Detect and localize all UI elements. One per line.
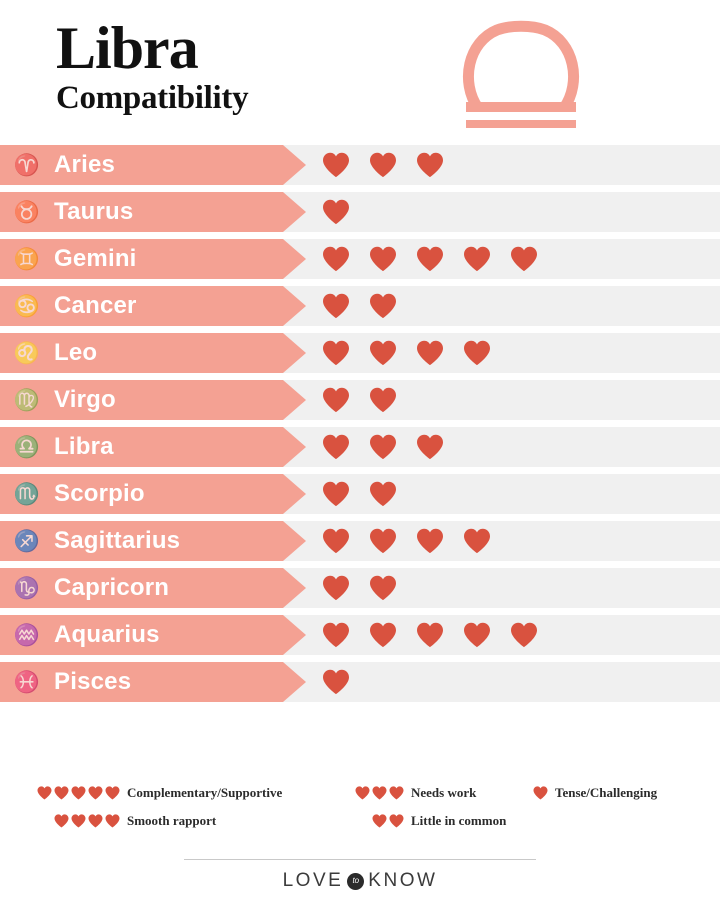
logo-know-text: KNOW (368, 870, 437, 892)
legend-label: Smooth rapport (127, 813, 216, 829)
heart-icon (369, 293, 397, 319)
sign-name-label: Leo (54, 339, 97, 367)
heart-icon (369, 434, 397, 460)
sign-name-label: Pisces (54, 668, 131, 696)
heart-rating (322, 286, 397, 326)
legend-column: Complementary/SupportiveSmooth rapport (34, 782, 334, 838)
heart-icon (322, 622, 350, 648)
sign-banner-aries[interactable]: ♈Aries (0, 145, 306, 185)
aquarius-symbol-icon: ♒ (0, 625, 54, 646)
heart-icon (533, 786, 548, 800)
scorpio-symbol-icon: ♏ (0, 484, 54, 505)
heart-rating (322, 192, 350, 232)
heart-icon (369, 528, 397, 554)
heart-icon (369, 152, 397, 178)
heart-icon (322, 246, 350, 272)
heart-rating (322, 380, 397, 420)
capricorn-symbol-icon: ♑ (0, 578, 54, 599)
footer-divider (184, 859, 536, 860)
sign-name-label: Gemini (54, 245, 137, 273)
heart-icon (372, 814, 387, 828)
sign-name-label: Cancer (54, 292, 137, 320)
legend-heart-group (352, 786, 404, 800)
page-title: Libra (56, 18, 248, 78)
heart-icon (369, 387, 397, 413)
heart-icon (463, 622, 491, 648)
legend-item: Smooth rapport (34, 810, 334, 832)
sign-banner-aquarius[interactable]: ♒Aquarius (0, 615, 306, 655)
table-row: ♏Scorpio (0, 474, 720, 514)
heart-rating (322, 521, 491, 561)
heart-icon (322, 575, 350, 601)
sign-name-label: Libra (54, 433, 114, 461)
heart-icon (37, 786, 52, 800)
legend-item: Tense/Challenging (530, 782, 710, 804)
sign-banner-libra[interactable]: ♎Libra (0, 427, 306, 467)
table-row: ♋Cancer (0, 286, 720, 326)
logo-to-badge: to (347, 873, 364, 890)
heart-icon (322, 481, 350, 507)
heart-icon (322, 152, 350, 178)
heart-rating (322, 333, 491, 373)
legend-column: Tense/Challenging (530, 782, 710, 810)
sign-name-label: Aries (54, 151, 115, 179)
heart-icon (322, 199, 350, 225)
logo-love-text: LOVE (283, 870, 344, 892)
table-row: ♍Virgo (0, 380, 720, 420)
sign-name-label: Sagittarius (54, 527, 180, 555)
heart-icon (372, 786, 387, 800)
heart-icon (416, 622, 444, 648)
legend-label: Complementary/Supportive (127, 785, 282, 801)
aries-symbol-icon: ♈ (0, 155, 54, 176)
legend-label: Little in common (411, 813, 506, 829)
legend-item: Complementary/Supportive (34, 782, 334, 804)
cancer-symbol-icon: ♋ (0, 296, 54, 317)
heart-rating (322, 568, 397, 608)
heart-icon (322, 434, 350, 460)
heart-icon (416, 340, 444, 366)
legend-label: Tense/Challenging (555, 785, 657, 801)
table-row: ♑Capricorn (0, 568, 720, 608)
legend-item: Little in common (352, 810, 542, 832)
heart-rating (322, 427, 444, 467)
heart-rating (322, 615, 538, 655)
heart-icon (88, 786, 103, 800)
heart-rating (322, 145, 444, 185)
table-row: ♐Sagittarius (0, 521, 720, 561)
heart-icon (416, 528, 444, 554)
title-block: Libra Compatibility (56, 18, 248, 116)
sign-name-label: Capricorn (54, 574, 169, 602)
legend: Complementary/SupportiveSmooth rapportNe… (0, 782, 720, 844)
sign-banner-sagittarius[interactable]: ♐Sagittarius (0, 521, 306, 561)
sign-name-label: Virgo (54, 386, 116, 414)
legend-heart-group (34, 814, 120, 828)
heart-icon (322, 528, 350, 554)
sign-banner-scorpio[interactable]: ♏Scorpio (0, 474, 306, 514)
heart-icon (322, 669, 350, 695)
heart-icon (369, 246, 397, 272)
sign-banner-cancer[interactable]: ♋Cancer (0, 286, 306, 326)
table-row: ♊Gemini (0, 239, 720, 279)
heart-icon (322, 293, 350, 319)
lovetoknow-logo: LOVE to KNOW (0, 870, 720, 892)
heart-icon (71, 814, 86, 828)
heart-icon (463, 246, 491, 272)
pisces-symbol-icon: ♓ (0, 672, 54, 693)
heart-icon (369, 481, 397, 507)
heart-icon (416, 434, 444, 460)
heart-icon (71, 786, 86, 800)
heart-icon (105, 814, 120, 828)
taurus-symbol-icon: ♉ (0, 202, 54, 223)
legend-heart-group (530, 786, 548, 800)
compatibility-rows: ♈Aries♉Taurus♊Gemini♋Cancer♌Leo♍Virgo♎Li… (0, 145, 720, 702)
sign-banner-leo[interactable]: ♌Leo (0, 333, 306, 373)
heart-icon (510, 622, 538, 648)
sign-banner-capricorn[interactable]: ♑Capricorn (0, 568, 306, 608)
table-row: ♎Libra (0, 427, 720, 467)
sagittarius-symbol-icon: ♐ (0, 531, 54, 552)
legend-column: Needs workLittle in common (352, 782, 542, 838)
heart-icon (369, 575, 397, 601)
table-row: ♈Aries (0, 145, 720, 185)
heart-rating (322, 662, 350, 702)
heart-icon (54, 814, 69, 828)
heart-icon (54, 786, 69, 800)
heart-icon (389, 786, 404, 800)
gemini-symbol-icon: ♊ (0, 249, 54, 270)
page-subtitle: Compatibility (56, 80, 248, 116)
libra-symbol-icon: ♎ (0, 437, 54, 458)
sign-name-label: Taurus (54, 198, 133, 226)
heart-icon (463, 528, 491, 554)
heart-icon (416, 246, 444, 272)
virgo-symbol-icon: ♍ (0, 390, 54, 411)
heart-icon (369, 340, 397, 366)
heart-icon (88, 814, 103, 828)
sign-banner-virgo[interactable]: ♍Virgo (0, 380, 306, 420)
sign-name-label: Aquarius (54, 621, 160, 649)
heart-rating (322, 239, 538, 279)
sign-banner-gemini[interactable]: ♊Gemini (0, 239, 306, 279)
heart-icon (355, 786, 370, 800)
heart-icon (510, 246, 538, 272)
header: Libra Compatibility (0, 0, 720, 145)
libra-symbol-icon (448, 16, 594, 128)
heart-icon (416, 152, 444, 178)
legend-label: Needs work (411, 785, 476, 801)
table-row: ♒Aquarius (0, 615, 720, 655)
heart-icon (322, 387, 350, 413)
heart-icon (463, 340, 491, 366)
heart-icon (369, 622, 397, 648)
sign-banner-taurus[interactable]: ♉Taurus (0, 192, 306, 232)
legend-item: Needs work (352, 782, 542, 804)
sign-name-label: Scorpio (54, 480, 145, 508)
sign-banner-pisces[interactable]: ♓Pisces (0, 662, 306, 702)
heart-icon (389, 814, 404, 828)
table-row: ♉Taurus (0, 192, 720, 232)
heart-icon (322, 340, 350, 366)
legend-heart-group (34, 786, 120, 800)
heart-icon (105, 786, 120, 800)
legend-heart-group (352, 814, 404, 828)
heart-rating (322, 474, 397, 514)
table-row: ♓Pisces (0, 662, 720, 702)
leo-symbol-icon: ♌ (0, 343, 54, 364)
table-row: ♌Leo (0, 333, 720, 373)
